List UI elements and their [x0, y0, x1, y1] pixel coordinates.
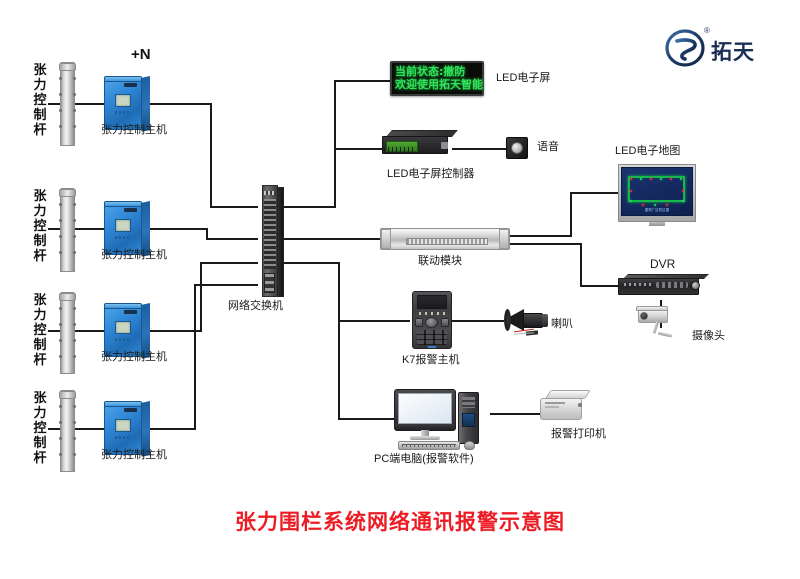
wire-pole4-ctrl4: [48, 428, 105, 430]
pole-label-2: 张力控制杆: [32, 188, 48, 263]
voice-speaker-icon: [506, 137, 528, 159]
tension-pole-3: [60, 292, 75, 374]
wire-pc-printer: [490, 413, 540, 415]
pole-label-1: 张力控制杆: [32, 62, 48, 137]
dvr-label: DVR: [650, 258, 675, 271]
wire-ctrl2-out: [150, 228, 208, 230]
tuotian-t-logo-icon: [665, 28, 705, 68]
wire-ctrl4-switch: [194, 284, 258, 286]
plus-n-annotation: +N: [131, 46, 151, 63]
led-controller-icon: [382, 130, 452, 156]
wire-to-ledmap: [570, 192, 618, 194]
wire-ctrl1-down: [210, 103, 212, 208]
horn-speaker-icon: [504, 306, 550, 336]
wire-to-led-controller: [334, 148, 382, 150]
wire-ctrl3-up: [200, 262, 202, 332]
led-line-2: 欢迎使用拓天智能: [395, 78, 479, 91]
registered-mark: ®: [704, 26, 710, 35]
wire-linkage-out-bottom: [510, 243, 582, 245]
printer-icon: [540, 390, 588, 424]
wire-ctrl3-switch: [200, 262, 258, 264]
wire-to-led-screen: [334, 80, 390, 82]
wire-to-pc: [338, 418, 394, 420]
wire-riser-ledscreen: [334, 80, 336, 208]
voice-label: 语音: [537, 141, 559, 153]
led-map-label: LED电子地图: [615, 145, 680, 157]
camera-label: 摄像头: [692, 330, 725, 342]
wire-ctrl4-out: [150, 428, 196, 430]
wire-switch-linkage: [284, 238, 380, 240]
network-switch-icon: [256, 185, 286, 297]
k7-alarm-host-label: K7报警主机: [402, 354, 459, 366]
wire-pole2-ctrl2: [48, 228, 105, 230]
wire-riser-pc: [338, 320, 340, 420]
wire-riser-ledmap: [570, 192, 572, 237]
wire-ctrl1-out: [150, 103, 212, 105]
led-map-screen-caption: 建筑厂区防区图: [622, 208, 692, 213]
tension-pole-4: [60, 390, 75, 472]
led-screen-label: LED电子屏: [496, 72, 550, 84]
tension-controller-1: [104, 76, 150, 130]
tension-controller-label-1: 张力控制主机: [101, 124, 167, 136]
wire-to-dvr: [580, 285, 618, 287]
led-display-icon: 当前状态:撤防 欢迎使用拓天智能: [390, 61, 484, 96]
horn-label: 喇叭: [551, 318, 573, 330]
wire-to-k7: [338, 320, 410, 322]
pole-label-3: 张力控制杆: [32, 292, 48, 367]
tension-pole-2: [60, 188, 75, 272]
wire-ledctrl-voice: [452, 148, 506, 150]
wire-k7-horn: [452, 320, 504, 322]
desktop-computer-icon: [394, 389, 494, 451]
wire-linkage-out-top: [510, 235, 572, 237]
led-line-1: 当前状态:撤防: [395, 65, 479, 78]
linkage-module-label: 联动模块: [418, 255, 462, 267]
tension-controller-label-4: 张力控制主机: [101, 449, 167, 461]
pc-label: PC端电脑(报警软件): [374, 453, 474, 465]
diagram-canvas: ® 拓天 张力控制杆: [0, 0, 800, 579]
pole-label-4: 张力控制杆: [32, 390, 48, 465]
cctv-camera-icon: [636, 306, 684, 338]
led-map-icon: 建筑厂区防区图: [618, 164, 696, 222]
tension-controller-4: [104, 401, 150, 455]
wire-switch-out3: [284, 262, 340, 264]
brand-name: 拓天: [711, 36, 755, 66]
printer-label: 报警打印机: [551, 428, 606, 440]
wire-switch-out1: [284, 206, 336, 208]
tension-controller-2: [104, 201, 150, 255]
wire-pole1-ctrl1: [48, 103, 105, 105]
network-switch-label: 网络交换机: [228, 300, 283, 312]
page-title: 张力围栏系统网络通讯报警示意图: [0, 506, 800, 536]
tension-controller-label-3: 张力控制主机: [101, 351, 167, 363]
wire-ctrl2-switch: [206, 238, 258, 240]
tension-pole-1: [60, 62, 75, 146]
wire-riser-dvr: [580, 243, 582, 287]
alarm-keypad-icon: [412, 291, 452, 349]
brand-logo: ® 拓天: [665, 28, 785, 72]
wire-riser-k7: [338, 262, 340, 322]
rack-module-icon: [380, 228, 510, 250]
tension-controller-label-2: 张力控制主机: [101, 249, 167, 261]
wire-pole3-ctrl3: [48, 330, 105, 332]
wire-ctrl4-up: [194, 284, 196, 430]
tension-controller-3: [104, 303, 150, 357]
led-controller-label: LED电子屏控制器: [387, 168, 474, 180]
dvr-icon: [618, 274, 704, 296]
wire-ctrl1-switch: [210, 206, 258, 208]
